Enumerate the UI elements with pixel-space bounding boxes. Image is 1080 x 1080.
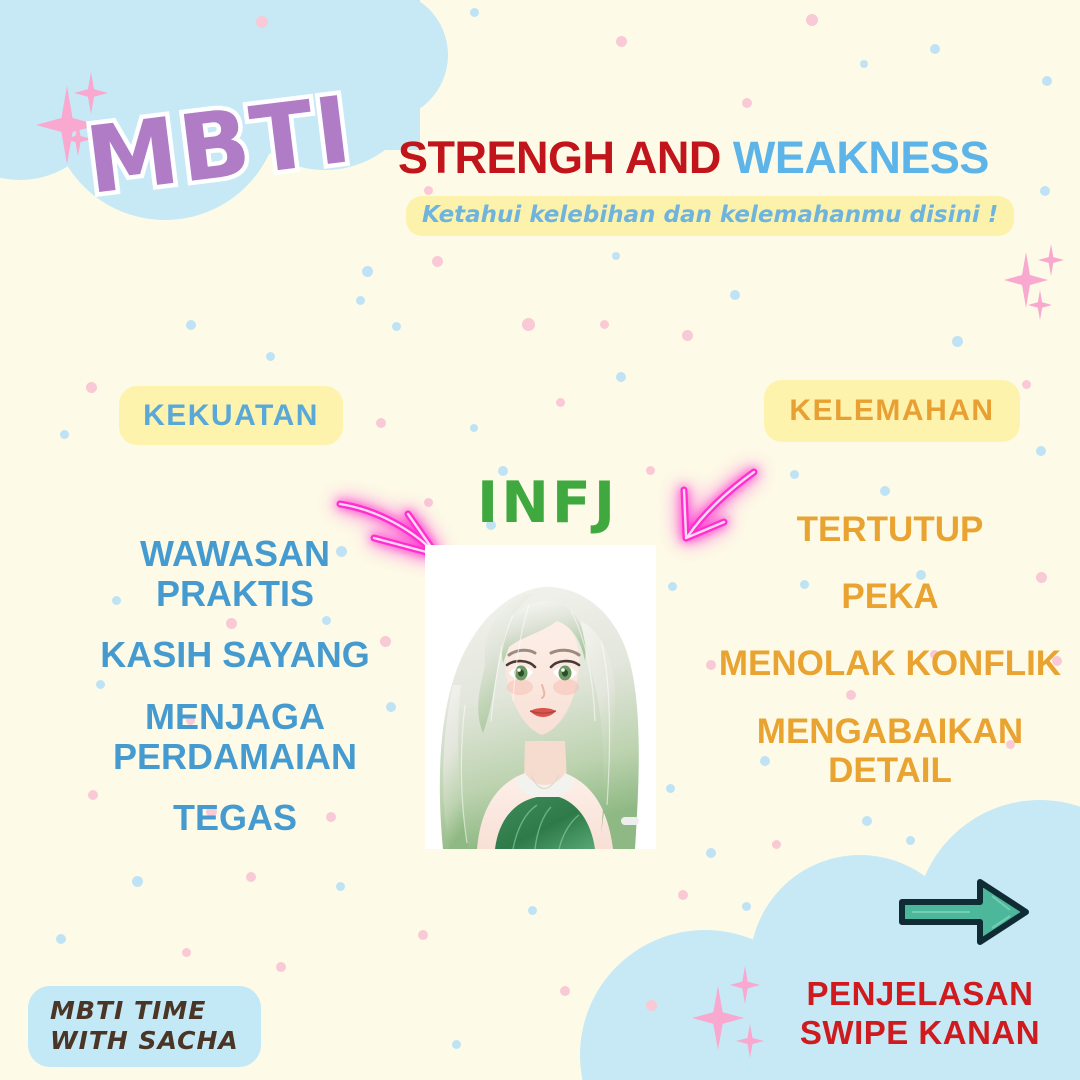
sparkle-icon [1038, 244, 1064, 276]
confetti-dot [182, 948, 191, 957]
weaknesses-badge: KELEMAHAN [764, 380, 1020, 442]
confetti-dot [730, 290, 740, 300]
confetti-dot [1036, 446, 1046, 456]
confetti-dot [266, 352, 275, 361]
confetti-dot [522, 318, 535, 331]
confetti-dot [612, 252, 620, 260]
confetti-dot [860, 60, 868, 68]
pink-arrow-right-icon [666, 462, 776, 548]
confetti-dot [678, 890, 688, 900]
mbti-type-label: INFJ [477, 470, 618, 536]
confetti-dot [276, 962, 286, 972]
handle-line-1: MBTI TIME [50, 996, 239, 1026]
cta-line-2: SWIPE KANAN [770, 1014, 1070, 1053]
confetti-dot [556, 398, 565, 407]
confetti-dot [470, 424, 478, 432]
swipe-cta: PENJELASAN SWIPE KANAN [770, 975, 1070, 1053]
confetti-dot [616, 372, 626, 382]
mbti-character-portrait [425, 545, 656, 849]
confetti-dot [392, 322, 401, 331]
handle-line-2: WITH SACHA [50, 1026, 239, 1056]
confetti-dot [1042, 76, 1052, 86]
confetti-dot [60, 430, 69, 439]
list-item: TEGAS [60, 798, 410, 838]
confetti-dot [806, 14, 818, 26]
confetti-dot [790, 470, 799, 479]
confetti-dot [470, 8, 479, 17]
confetti-dot [186, 320, 196, 330]
weaknesses-list: TERTUTUP PEKA MENOLAK KONFLIK MENGABAIKA… [700, 510, 1080, 790]
confetti-dot [742, 902, 751, 911]
confetti-dot [666, 784, 675, 793]
confetti-dot [376, 418, 386, 428]
headline-weakness: WEAKNESS [733, 132, 989, 183]
confetti-dot [560, 986, 570, 996]
cloud-top-left-extension [330, 0, 480, 220]
subtitle-highlight: Ketahui kelebihan dan kelemahanmu disini… [406, 196, 1014, 236]
list-item: MENOLAK KONFLIK [700, 644, 1080, 683]
account-handle-badge: MBTI TIME WITH SACHA [28, 986, 261, 1067]
headline-strength: STRENGH AND [398, 132, 721, 183]
confetti-dot [880, 486, 890, 496]
confetti-dot [682, 330, 693, 341]
strengths-badge: KEKUATAN [119, 386, 343, 445]
confetti-dot [646, 1000, 657, 1011]
confetti-dot [706, 848, 716, 858]
list-item: MENGABAIKAN DETAIL [700, 712, 1080, 790]
confetti-dot [616, 36, 627, 47]
confetti-dot [600, 320, 609, 329]
confetti-dot [1040, 186, 1050, 196]
confetti-dot [646, 466, 655, 475]
confetti-dot [418, 930, 428, 940]
confetti-dot [432, 256, 443, 267]
confetti-dot [452, 1040, 461, 1049]
confetti-dot [362, 266, 373, 277]
poster-canvas: MBTI STRENGH AND WEAKNESS Ketahui kelebi… [0, 0, 1080, 1080]
confetti-dot [336, 882, 345, 891]
confetti-dot [56, 934, 66, 944]
confetti-dot [356, 296, 365, 305]
confetti-dot [528, 906, 537, 915]
sparkle-icon [1028, 290, 1052, 320]
confetti-dot [930, 44, 940, 54]
confetti-dot [86, 382, 97, 393]
list-item: KASIH SAYANG [60, 635, 410, 675]
headline: STRENGH AND WEAKNESS [398, 132, 989, 184]
confetti-dot [742, 98, 752, 108]
confetti-dot [256, 16, 268, 28]
cta-line-1: PENJELASAN [770, 975, 1070, 1014]
confetti-dot [424, 186, 433, 195]
confetti-dot [668, 582, 677, 591]
swipe-right-arrow-icon [896, 876, 1032, 948]
confetti-dot [952, 336, 963, 347]
confetti-dot [132, 876, 143, 887]
confetti-dot [906, 836, 915, 845]
confetti-dot [772, 840, 781, 849]
list-item: MENJAGA PERDAMAIAN [60, 697, 410, 778]
list-item: PEKA [700, 577, 1080, 616]
confetti-dot [862, 816, 872, 826]
strengths-list: WAWASAN PRAKTIS KASIH SAYANG MENJAGA PER… [60, 534, 410, 838]
confetti-dot [246, 872, 256, 882]
confetti-dot [1022, 380, 1031, 389]
subtitle: Ketahui kelebihan dan kelemahanmu disini… [422, 202, 998, 228]
